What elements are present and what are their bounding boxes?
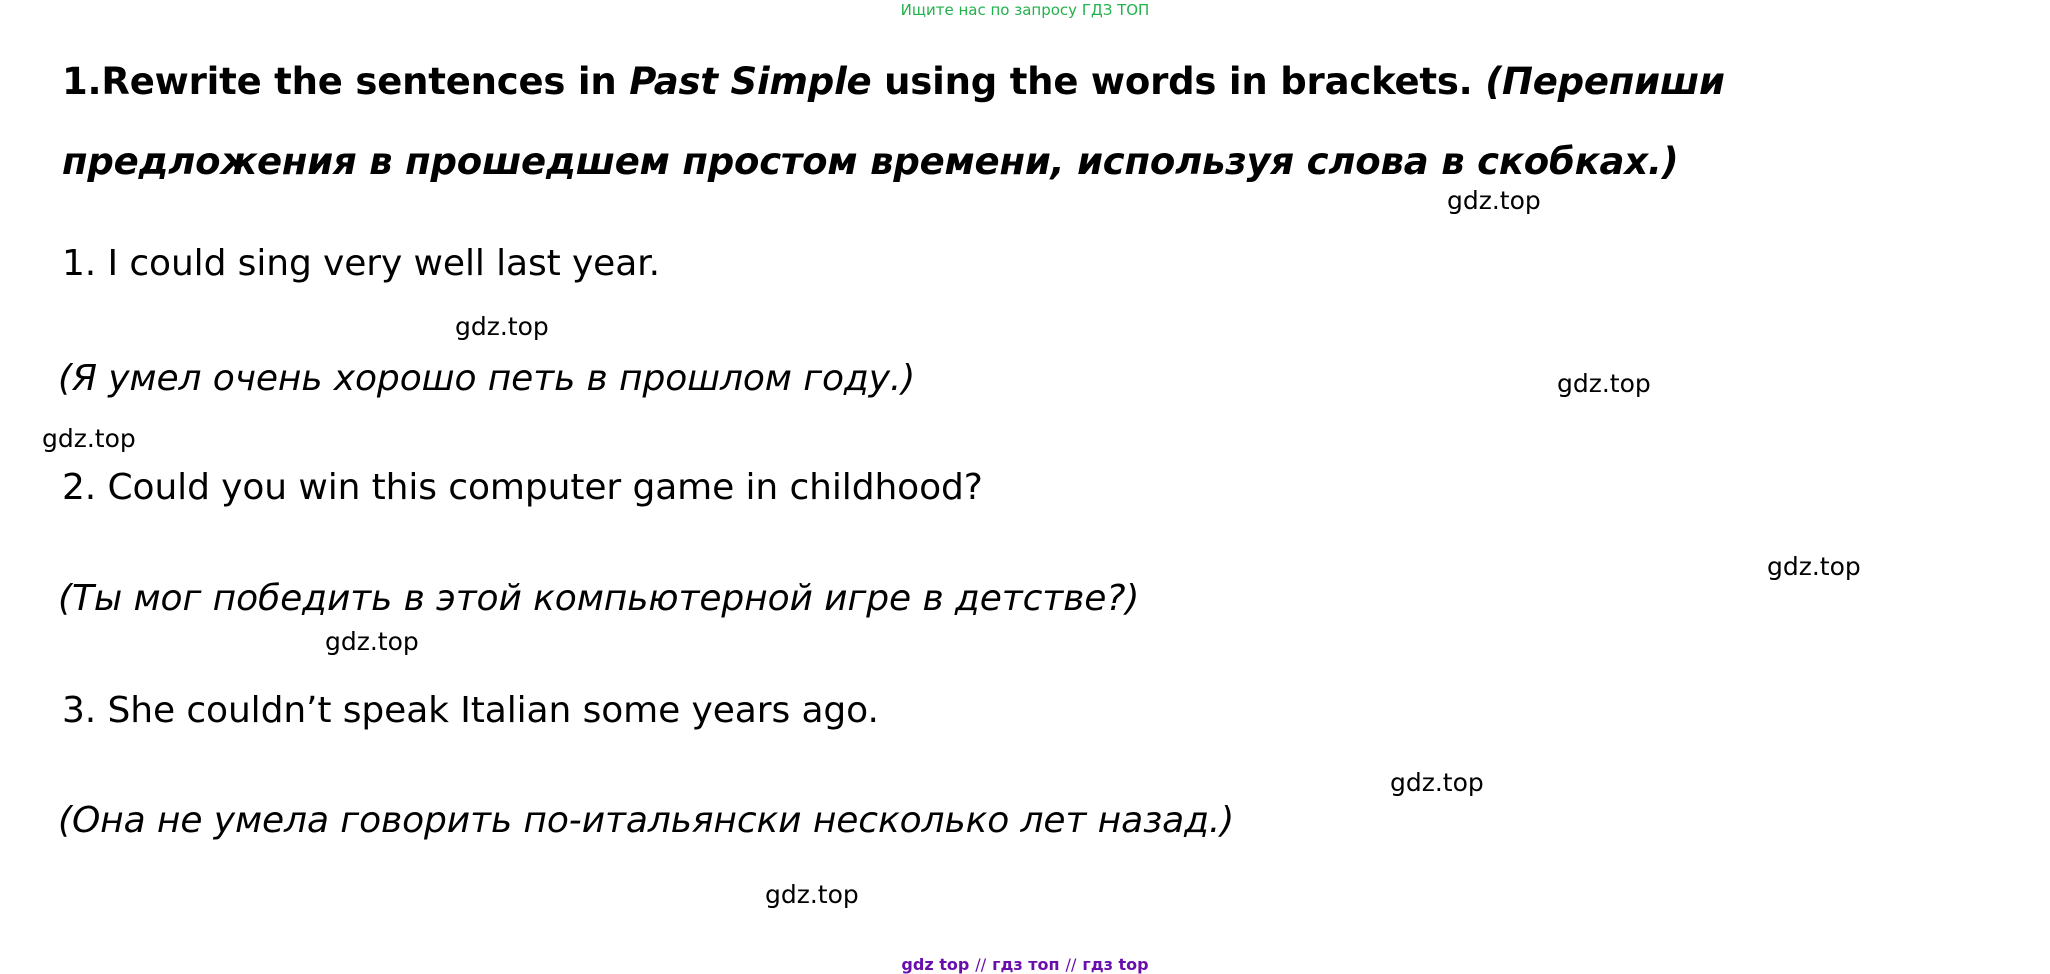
task-title-line-1: 1.Rewrite the sentences in Past Simple u…: [62, 42, 1992, 122]
footer-link-gdz-top[interactable]: gdz top: [901, 955, 969, 974]
exercise-3-russian: (Она не умела говорить по-итальянски нес…: [58, 800, 1234, 841]
task-title-russian-start: (Перепиши: [1473, 60, 1725, 103]
footer-link-gdz-top-ru[interactable]: гдз топ: [992, 955, 1059, 974]
task-title-tense-name: Past Simple: [629, 60, 871, 103]
exercise-2-english: 2. Could you win this computer game in c…: [62, 467, 983, 508]
watermark: gdz.top: [325, 627, 419, 656]
task-title-line-2: предложения в прошедшем простом времени,…: [62, 122, 1992, 202]
watermark: gdz.top: [455, 312, 549, 341]
exercise-1-english: 1. I could sing very well last year.: [62, 243, 660, 284]
footer-links: gdz top//гдз топ//гдз top: [0, 955, 2050, 974]
watermark: gdz.top: [1767, 552, 1861, 581]
footer-link-gdz-top-mixed[interactable]: гдз top: [1082, 955, 1148, 974]
watermark: gdz.top: [1447, 186, 1541, 215]
watermark: gdz.top: [1390, 768, 1484, 797]
exercise-2-russian: (Ты мог победить в этой компьютерной игр…: [58, 578, 1139, 619]
site-promo-banner: Ищите нас по запросу ГДЗ ТОП: [0, 0, 2050, 20]
exercise-3-english: 3. She couldn’t speak Italian some years…: [62, 690, 879, 731]
watermark: gdz.top: [1557, 369, 1651, 398]
document-page: Ищите нас по запросу ГДЗ ТОП 1.Rewrite t…: [0, 0, 2050, 974]
watermark: gdz.top: [42, 424, 136, 453]
footer-separator-1: //: [975, 955, 986, 974]
task-title-english-start: Rewrite the sentences in: [101, 60, 629, 103]
task-title-english-end: using the words in brackets.: [871, 60, 1472, 103]
footer-separator-2: //: [1066, 955, 1077, 974]
exercise-1-russian: (Я умел очень хорошо петь в прошлом году…: [58, 358, 915, 399]
watermark: gdz.top: [765, 880, 859, 909]
task-number: 1.: [62, 60, 101, 103]
